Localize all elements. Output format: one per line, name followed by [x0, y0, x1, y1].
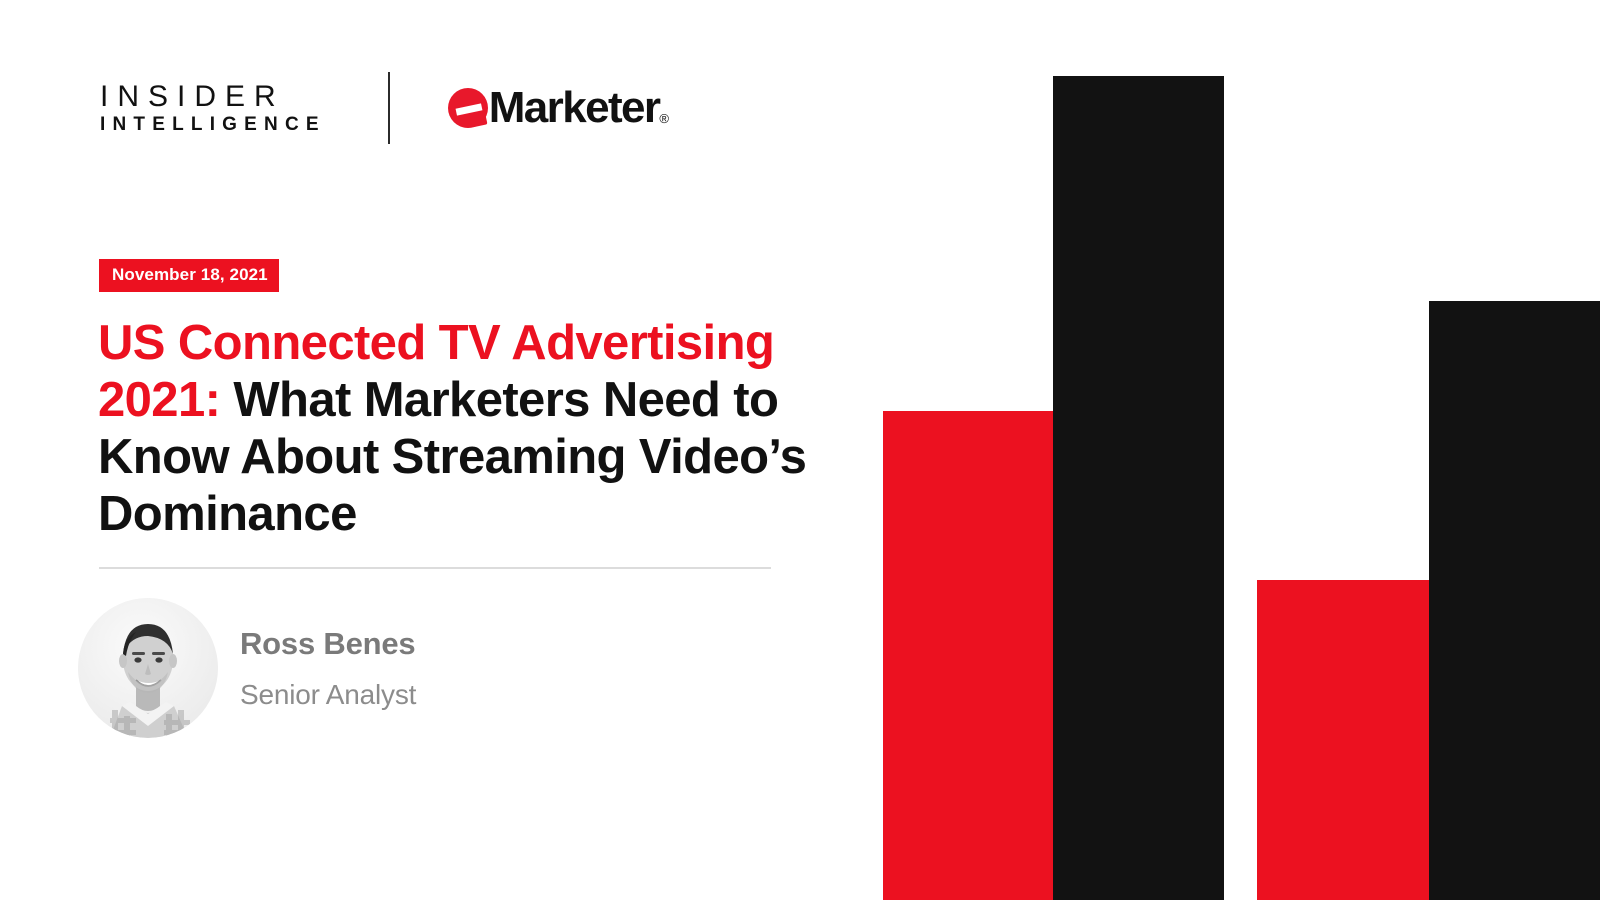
insider-intelligence-line2: INTELLIGENCE — [100, 114, 326, 136]
insider-intelligence-logo: INSIDER INTELLIGENCE — [100, 79, 326, 137]
avatar — [78, 598, 218, 738]
title-divider — [99, 567, 771, 569]
emarketer-wordmark: Marketer — [489, 86, 660, 130]
cover-slide: INSIDER INTELLIGENCE Marketer ® November… — [0, 0, 1600, 900]
avatar-portrait-icon — [78, 598, 218, 738]
emarketer-logo: Marketer ® — [448, 86, 669, 130]
chart-bar-3 — [1257, 580, 1429, 900]
insider-intelligence-line1: INSIDER — [100, 79, 326, 114]
author-block: Ross Benes Senior Analyst — [78, 598, 416, 738]
author-text: Ross Benes Senior Analyst — [240, 625, 416, 712]
chart-bar-4 — [1429, 301, 1600, 900]
logo-lockup: INSIDER INTELLIGENCE Marketer ® — [100, 68, 669, 148]
chart-bar-1 — [883, 411, 1055, 900]
author-role: Senior Analyst — [240, 678, 416, 712]
date-badge: November 18, 2021 — [99, 259, 279, 292]
logo-divider — [388, 72, 390, 144]
chart-bar-2 — [1053, 76, 1224, 900]
author-name: Ross Benes — [240, 625, 416, 662]
emarketer-e-icon — [448, 88, 488, 128]
registered-trademark-icon: ® — [659, 111, 669, 126]
page-title: US Connected TV Advertising 2021: What M… — [98, 315, 878, 543]
